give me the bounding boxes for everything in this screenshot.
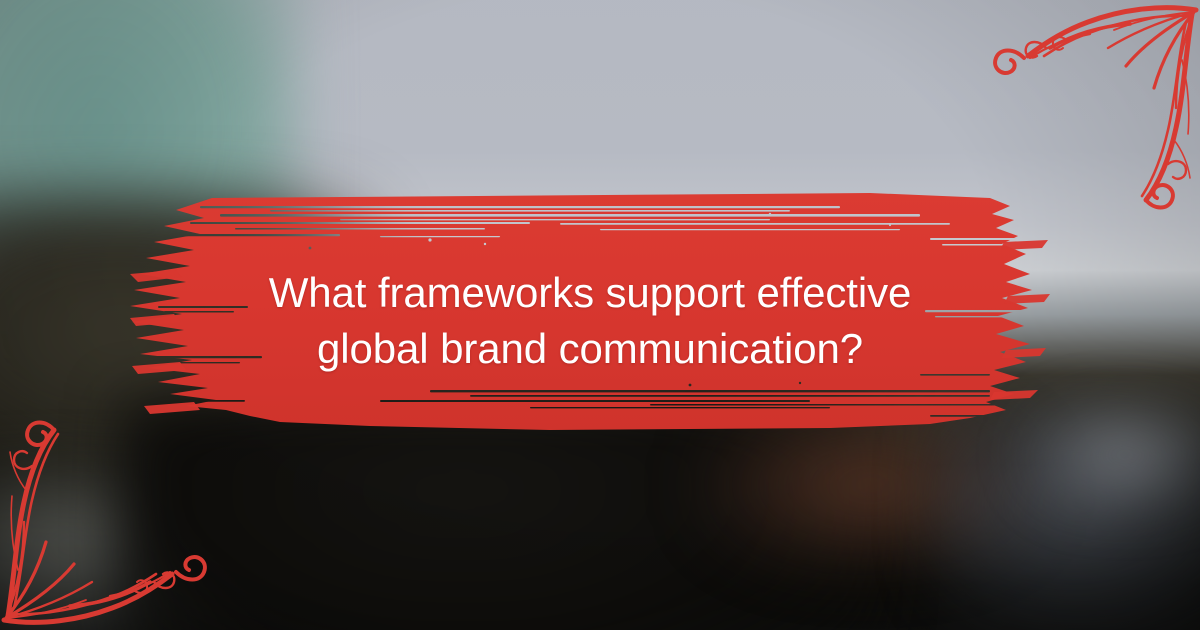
page-title: What frameworks support effective global… (150, 265, 1030, 377)
question-card: What frameworks support effective global… (0, 0, 1200, 630)
